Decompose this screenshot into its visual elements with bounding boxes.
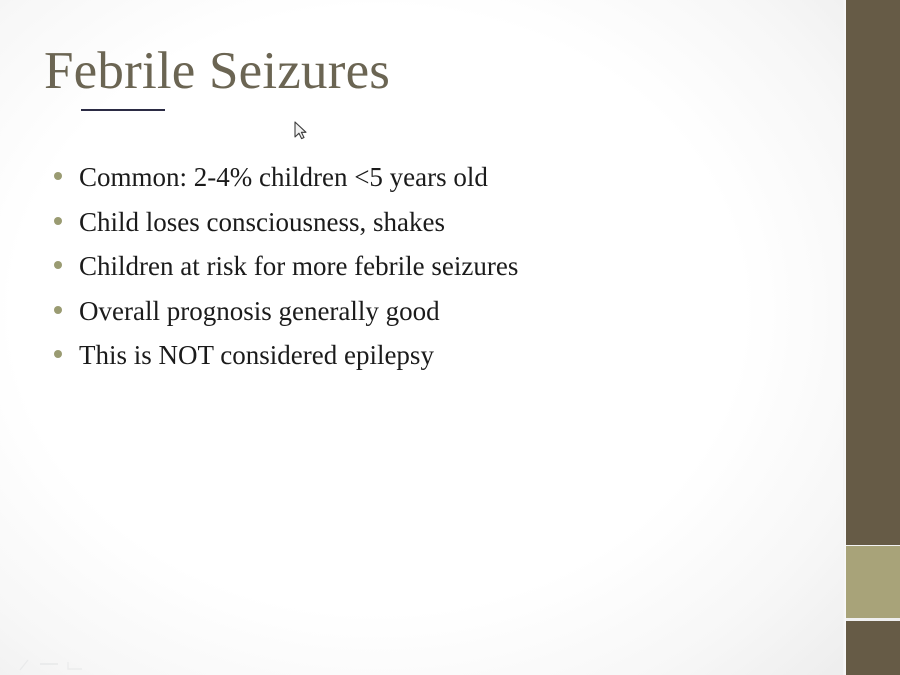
- list-item-label: This is NOT considered epilepsy: [79, 338, 434, 372]
- sidebar-bar-top: [846, 0, 900, 545]
- title-block: Febrile Seizures: [44, 40, 744, 102]
- bullet-dot-icon: [54, 350, 62, 358]
- list-item: Overall prognosis generally good: [44, 294, 804, 339]
- page-title: Febrile Seizures: [44, 40, 744, 102]
- list-item: This is NOT considered epilepsy: [44, 338, 804, 383]
- list-item: Children at risk for more febrile seizur…: [44, 249, 804, 294]
- list-item: Common: 2-4% children <5 years old: [44, 160, 804, 205]
- list-item-label: Child loses consciousness, shakes: [79, 205, 445, 239]
- decorative-sidebar: [845, 0, 900, 675]
- arrow-cursor-icon: [292, 120, 308, 142]
- bullet-dot-icon: [54, 306, 62, 314]
- list-item-label: Children at risk for more febrile seizur…: [79, 249, 518, 283]
- title-underline-accent: [81, 109, 165, 111]
- list-item: Child loses consciousness, shakes: [44, 205, 804, 250]
- sidebar-bar-bottom: [846, 621, 900, 675]
- faint-bottom-left-artifact: [18, 657, 90, 671]
- bullet-list: Common: 2-4% children <5 years old Child…: [44, 160, 804, 383]
- presentation-slide: Febrile Seizures Common: 2-4% children <…: [0, 0, 900, 675]
- list-item-label: Common: 2-4% children <5 years old: [79, 160, 488, 194]
- bullet-dot-icon: [54, 172, 62, 180]
- bullet-dot-icon: [54, 261, 62, 269]
- list-item-label: Overall prognosis generally good: [79, 294, 440, 328]
- bullet-dot-icon: [54, 217, 62, 225]
- sidebar-bar-accent: [846, 546, 900, 618]
